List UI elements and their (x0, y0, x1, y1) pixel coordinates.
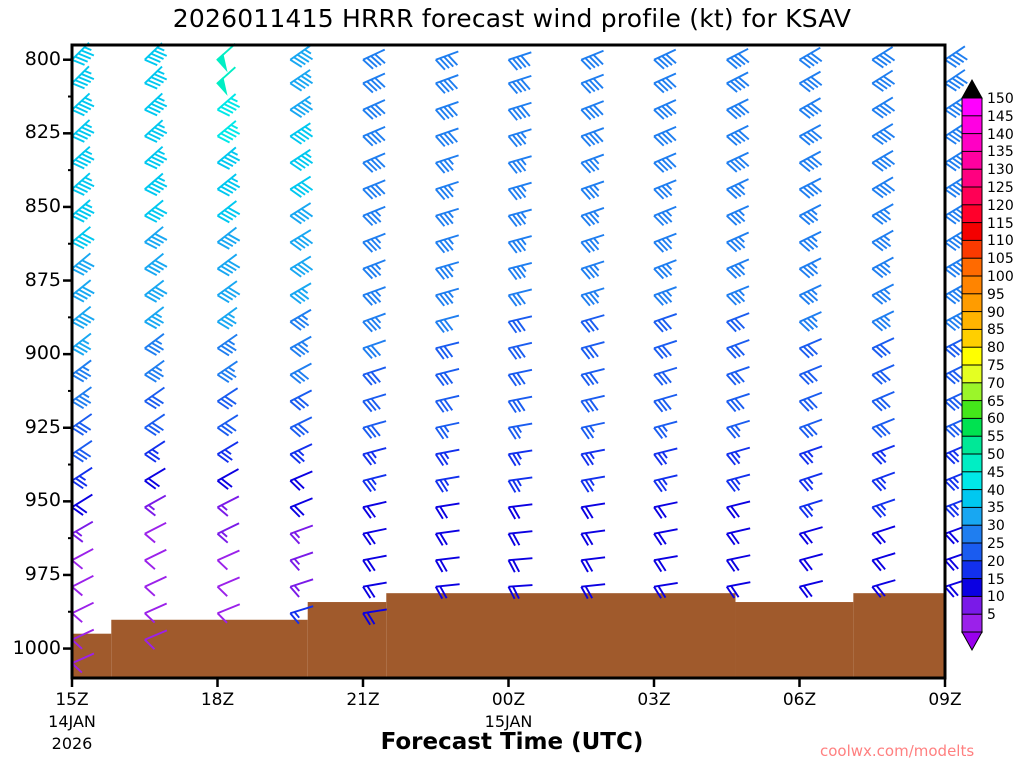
colorbar-level-label: 130 (987, 163, 1014, 177)
colorbar (962, 80, 982, 650)
colorbar-level-label: 80 (987, 341, 1005, 355)
colorbar-level-label: 70 (987, 377, 1005, 391)
wind-profile-chart: 2026011415 HRRR forecast wind profile (k… (0, 0, 1024, 768)
colorbar-level-label: 35 (987, 501, 1005, 515)
colorbar-level-label: 100 (987, 270, 1014, 284)
colorbar-level-label: 140 (987, 128, 1014, 142)
colorbar-level-label: 75 (987, 359, 1005, 373)
watermark-credit: coolwx.com/modelts (820, 742, 974, 760)
colorbar-level-label: 150 (987, 92, 1014, 106)
colorbar-level-label: 5 (987, 608, 996, 622)
terrain-band (72, 593, 945, 678)
y-tick-label: 825 (1, 121, 61, 143)
x-tick-label: 09Z (900, 690, 990, 710)
colorbar-level-label: 110 (987, 234, 1014, 248)
colorbar-level-label: 60 (987, 412, 1005, 426)
plot-canvas (0, 0, 1024, 768)
y-tick-label: 850 (1, 195, 61, 217)
wind-barb-field (72, 43, 968, 673)
colorbar-level-label: 55 (987, 430, 1005, 444)
colorbar-level-label: 25 (987, 537, 1005, 551)
axis-ticks (63, 60, 945, 687)
y-tick-label: 900 (1, 342, 61, 364)
colorbar-level-label: 125 (987, 181, 1014, 195)
colorbar-level-label: 85 (987, 323, 1005, 337)
colorbar-level-label: 115 (987, 217, 1014, 231)
colorbar-level-label: 105 (987, 252, 1014, 266)
y-tick-label: 1000 (1, 637, 61, 659)
colorbar-level-label: 10 (987, 590, 1005, 604)
x-tick-label: 18Z (173, 690, 263, 710)
y-tick-label: 925 (1, 416, 61, 438)
colorbar-level-label: 45 (987, 466, 1005, 480)
colorbar-level-label: 20 (987, 555, 1005, 569)
x-tick-label: 21Z (318, 690, 408, 710)
colorbar-level-label: 65 (987, 395, 1005, 409)
colorbar-level-label: 90 (987, 306, 1005, 320)
y-tick-label: 800 (1, 48, 61, 70)
x-tick-label: 06Z (755, 690, 845, 710)
colorbar-level-label: 50 (987, 448, 1005, 462)
y-tick-label: 950 (1, 489, 61, 511)
colorbar-level-label: 40 (987, 484, 1005, 498)
colorbar-level-label: 15 (987, 573, 1005, 587)
colorbar-level-label: 30 (987, 519, 1005, 533)
colorbar-level-label: 135 (987, 145, 1014, 159)
y-tick-label: 975 (1, 563, 61, 585)
x-tick-label: 15Z (27, 690, 117, 710)
x-tick-label: 00Z (464, 690, 554, 710)
colorbar-level-label: 145 (987, 110, 1014, 124)
colorbar-level-label: 95 (987, 288, 1005, 302)
x-tick-label: 03Z (609, 690, 699, 710)
colorbar-level-label: 120 (987, 199, 1014, 213)
y-tick-label: 875 (1, 269, 61, 291)
